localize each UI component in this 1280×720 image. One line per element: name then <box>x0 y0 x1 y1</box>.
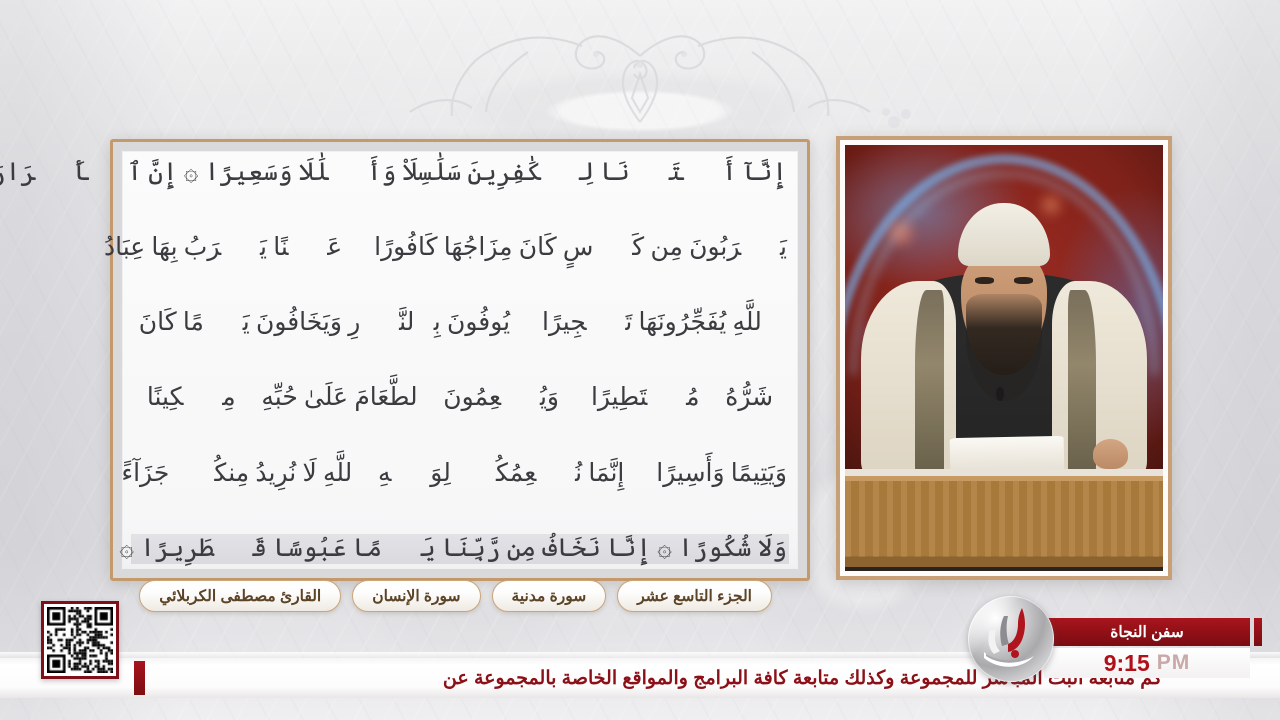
channel-name-banner: سفن النجاة <box>1044 618 1250 646</box>
video-wooden-lectern <box>845 469 1163 571</box>
clock-display: 9:15 PM <box>1044 648 1250 678</box>
quran-ayah-line: ٱللَّهِ يُفَجِّرُونَهَا تَفۡجِيرًا ۞ يُو… <box>131 308 789 338</box>
video-shawl-embroidery-left <box>915 290 944 477</box>
qr-code-icon[interactable] <box>41 601 119 679</box>
reciter-video <box>845 145 1163 571</box>
quran-ayah-line-active: وَلَا شُكُورًا ۞ إِنَّا نَخَافُ مِن رَّب… <box>131 534 789 564</box>
channel-logo-icon <box>968 596 1054 682</box>
pill-reciter[interactable]: القارئ مصطفى الكربلائي <box>139 580 341 612</box>
video-bokeh-light <box>890 222 912 244</box>
video-reciter-eye-right <box>1014 277 1033 284</box>
reciter-video-frame <box>836 136 1172 580</box>
video-lapel-microphone <box>996 387 1004 401</box>
pill-juz[interactable]: الجزء التاسع عشر <box>617 580 772 612</box>
qr-code-canvas <box>47 607 113 673</box>
video-reciter-hand <box>1093 439 1128 469</box>
quran-ayah-line: إِنَّآ أَعۡتَدۡنَا لِلۡكَٰفِرِينَ سَلَٰس… <box>131 158 789 188</box>
video-shawl-embroidery-right <box>1068 290 1097 477</box>
quran-text-panel: إِنَّآ أَعۡتَدۡنَا لِلۡكَٰفِرِينَ سَلَٰس… <box>110 139 810 581</box>
channel-logo-calligraphy-icon <box>978 604 1044 674</box>
clock-time: 9:15 <box>1104 650 1150 677</box>
video-reciter-eye-left <box>975 277 994 284</box>
quran-text-mat: إِنَّآ أَعۡتَدۡنَا لِلۡكَٰفِرِينَ سَلَٰس… <box>122 151 798 569</box>
pill-surah-type[interactable]: سورة مدنية <box>492 580 607 612</box>
ticker-end-marker <box>134 661 145 695</box>
clock-meridiem: PM <box>1157 651 1191 675</box>
metadata-pill-row: القارئ مصطفى الكربلائي سورة الإنسان سورة… <box>139 580 772 612</box>
quran-ayah-line: شَرُّهُۥ مُسۡتَطِيرًا ۞ وَيُطۡعِمُونَ ٱل… <box>131 383 789 413</box>
channel-banner-tail <box>1254 618 1262 646</box>
pill-surah[interactable]: سورة الإنسان <box>352 580 480 612</box>
quran-ayah-line: وَيَتِيمًا وَأَسِيرًا ۞ إِنَّمَا نُطۡعِم… <box>131 459 789 489</box>
quran-ayah-line: يَشۡرَبُونَ مِن كَأۡسٍ كَانَ مِزَاجُهَا … <box>131 233 789 263</box>
